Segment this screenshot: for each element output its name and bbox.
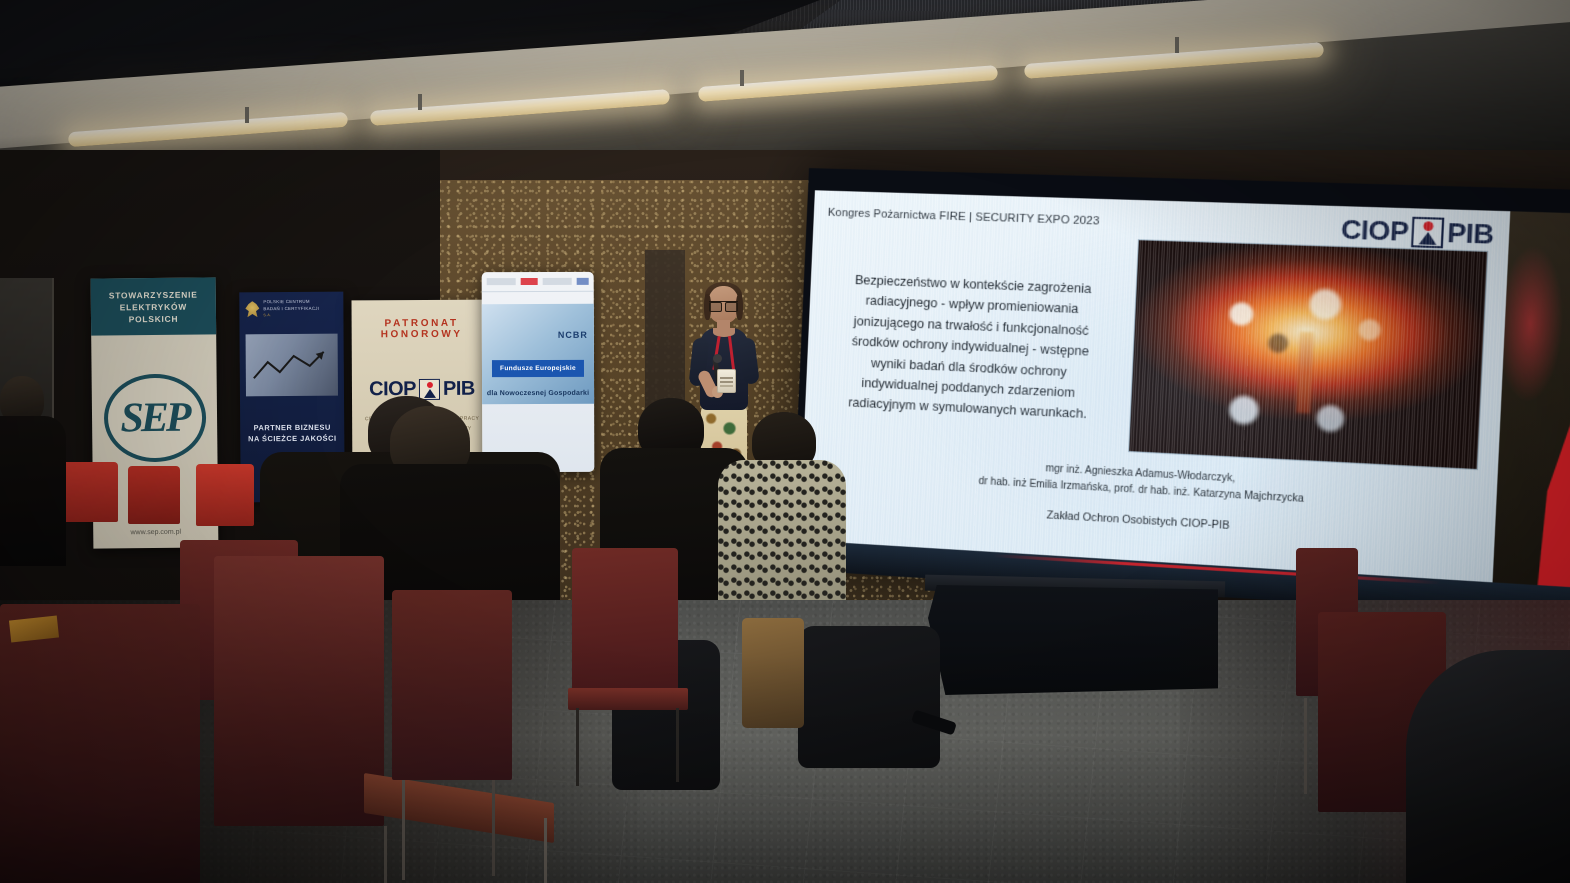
led-presentation-screen: Kongres Pożarnictwa FIRE | SECURITY EXPO…	[791, 168, 1570, 619]
chair-backrest	[196, 464, 254, 526]
presentation-slide: Kongres Pożarnictwa FIRE | SECURITY EXPO…	[799, 190, 1510, 582]
sep-logo: SEP	[103, 373, 206, 462]
chair-backrest	[128, 466, 180, 524]
funding-logo-poland	[521, 278, 538, 285]
ncbr-caption: dla Nowoczesnej Gospodarki	[482, 390, 594, 397]
backpack-2	[798, 626, 940, 768]
banner-ncbr: NCBR Fundusze Europejskie dla Nowoczesne…	[482, 272, 595, 472]
pcbc-org-sub: S.A.	[263, 313, 271, 317]
lamp-mount-2	[418, 94, 422, 110]
growth-arrow-icon	[252, 348, 330, 383]
chair-leg	[384, 826, 387, 883]
chair-leg	[402, 780, 405, 880]
chair-backrest	[572, 548, 678, 694]
slide-logo-ciop: CIOP	[1340, 214, 1409, 249]
chair-backrest	[392, 590, 512, 780]
funding-logo-3	[543, 278, 572, 285]
funding-logo-1	[487, 278, 516, 285]
slide-logo-pib: PIB	[1446, 217, 1494, 251]
nuclear-explosion-image	[1128, 239, 1488, 470]
explosion-cloud-detail	[1129, 240, 1487, 469]
lamp-mount-1	[245, 107, 249, 123]
ncbr-logo-text: NCBR	[558, 330, 588, 340]
chair-leg	[676, 708, 679, 782]
polish-eagle-icon	[245, 301, 259, 317]
banner-sep-line-3: POLSKICH	[95, 313, 212, 326]
pcbc-graphic	[246, 334, 338, 397]
lamp-mount-3	[740, 70, 744, 86]
pcbc-org-name: POLSKIE CENTRUM BADAŃ I CERTYFIKACJI S.A…	[263, 299, 319, 319]
funding-logo-eu	[577, 278, 589, 285]
ncbr-bar-text: Fundusze Europejskie	[492, 360, 584, 377]
pcbc-org-line-2: BADAŃ I CERTYFIKACJI	[263, 305, 319, 312]
chair-leg	[544, 818, 547, 883]
chair-leg	[1304, 698, 1307, 794]
pcbc-header: POLSKIE CENTRUM BADAŃ I CERTYFIKACJI S.A…	[239, 292, 343, 320]
ciop-pib-figure-mark-icon	[1411, 217, 1444, 249]
chair-backrest	[0, 604, 200, 883]
presenter-glasses	[709, 301, 738, 310]
banner-sep-line-1: STOWARZYSZENIE	[95, 288, 212, 301]
conference-room-photo: STOWARZYSZENIE ELEKTRYKÓW POLSKICH SEP z…	[0, 0, 1570, 883]
slide-header-text: Kongres Pożarnictwa FIRE | SECURITY EXPO…	[828, 207, 1100, 228]
slide-title-block: Bezpieczeństwo w kontekście zagrożenia r…	[815, 269, 1128, 427]
lamp-mount-4	[1175, 37, 1179, 53]
chair-leg	[492, 780, 495, 876]
presenter-collar	[713, 328, 735, 337]
chair-backrest	[214, 556, 384, 826]
sep-logo-text: SEP	[120, 394, 189, 443]
microphone-head	[713, 354, 722, 363]
pcbc-headline: PARTNER BIZNESU NA ŚCIEŻCE JAKOŚCI	[240, 422, 344, 445]
chair-backrest	[60, 462, 118, 522]
banner-sep-headline: STOWARZYSZENIE ELEKTRYKÓW POLSKICH	[91, 277, 217, 335]
presenter-badge	[717, 369, 736, 393]
slide-ciop-pib-logo: CIOP PIB	[1340, 214, 1494, 252]
ciop-figure-mark-icon	[419, 379, 440, 400]
ncbr-funding-logos-strip	[482, 272, 594, 292]
chair-leg	[576, 708, 579, 786]
stage-riser	[928, 585, 1218, 695]
pcbc-headline-1: PARTNER BIZNESU	[240, 422, 344, 434]
bag-wooden-case	[742, 618, 804, 728]
ciop-patronage-text: PATRONAT HONOROWY	[352, 300, 492, 341]
chair-seat	[568, 688, 688, 710]
foreground-person-body	[1406, 650, 1570, 883]
audience-body	[0, 416, 66, 566]
led-red-graphic	[1537, 399, 1570, 589]
ciop-banner-logo-right: PIB	[443, 378, 475, 401]
pcbc-headline-2: NA ŚCIEŻCE JAKOŚCI	[240, 433, 344, 445]
